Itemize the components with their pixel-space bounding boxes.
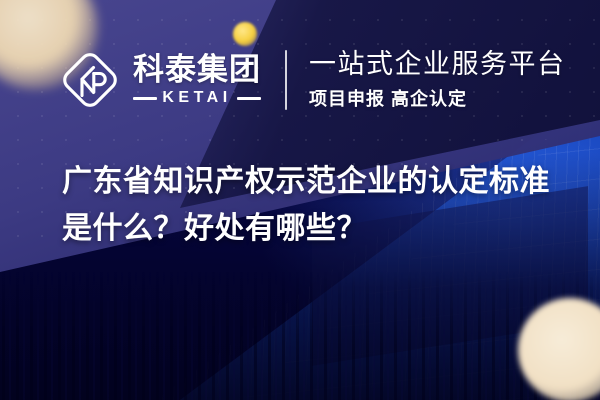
brand-name-cn: 科泰集团 xyxy=(133,54,261,85)
brand-name-en: KETAI xyxy=(162,90,231,106)
tagline-block: 一站式企业服务平台 项目申报 高企认定 xyxy=(309,49,566,111)
tagline-sub: 项目申报 高企认定 xyxy=(309,85,566,111)
vertical-divider xyxy=(285,50,287,110)
promo-banner: 科泰集团 KETAI 一站式企业服务平台 项目申报 高企认定 广东省知识产权示范… xyxy=(0,0,600,400)
dash-right-icon xyxy=(237,97,261,100)
page-title: 广东省知识产权示范企业的认定标准是什么？好处有哪些？ xyxy=(62,158,552,253)
brand-logo[interactable]: 科泰集团 KETAI xyxy=(60,50,261,110)
ketai-diamond-kp-logo-icon xyxy=(60,50,120,110)
tagline-main: 一站式企业服务平台 xyxy=(309,49,566,79)
brand-name-en-row: KETAI xyxy=(133,90,261,106)
background-building-bars xyxy=(0,271,600,400)
brand-wordmark: 科泰集团 KETAI xyxy=(133,54,261,106)
dash-left-icon xyxy=(133,97,157,100)
banner-header: 科泰集团 KETAI 一站式企业服务平台 项目申报 高企认定 xyxy=(0,44,600,116)
gold-dot-icon xyxy=(233,22,257,46)
